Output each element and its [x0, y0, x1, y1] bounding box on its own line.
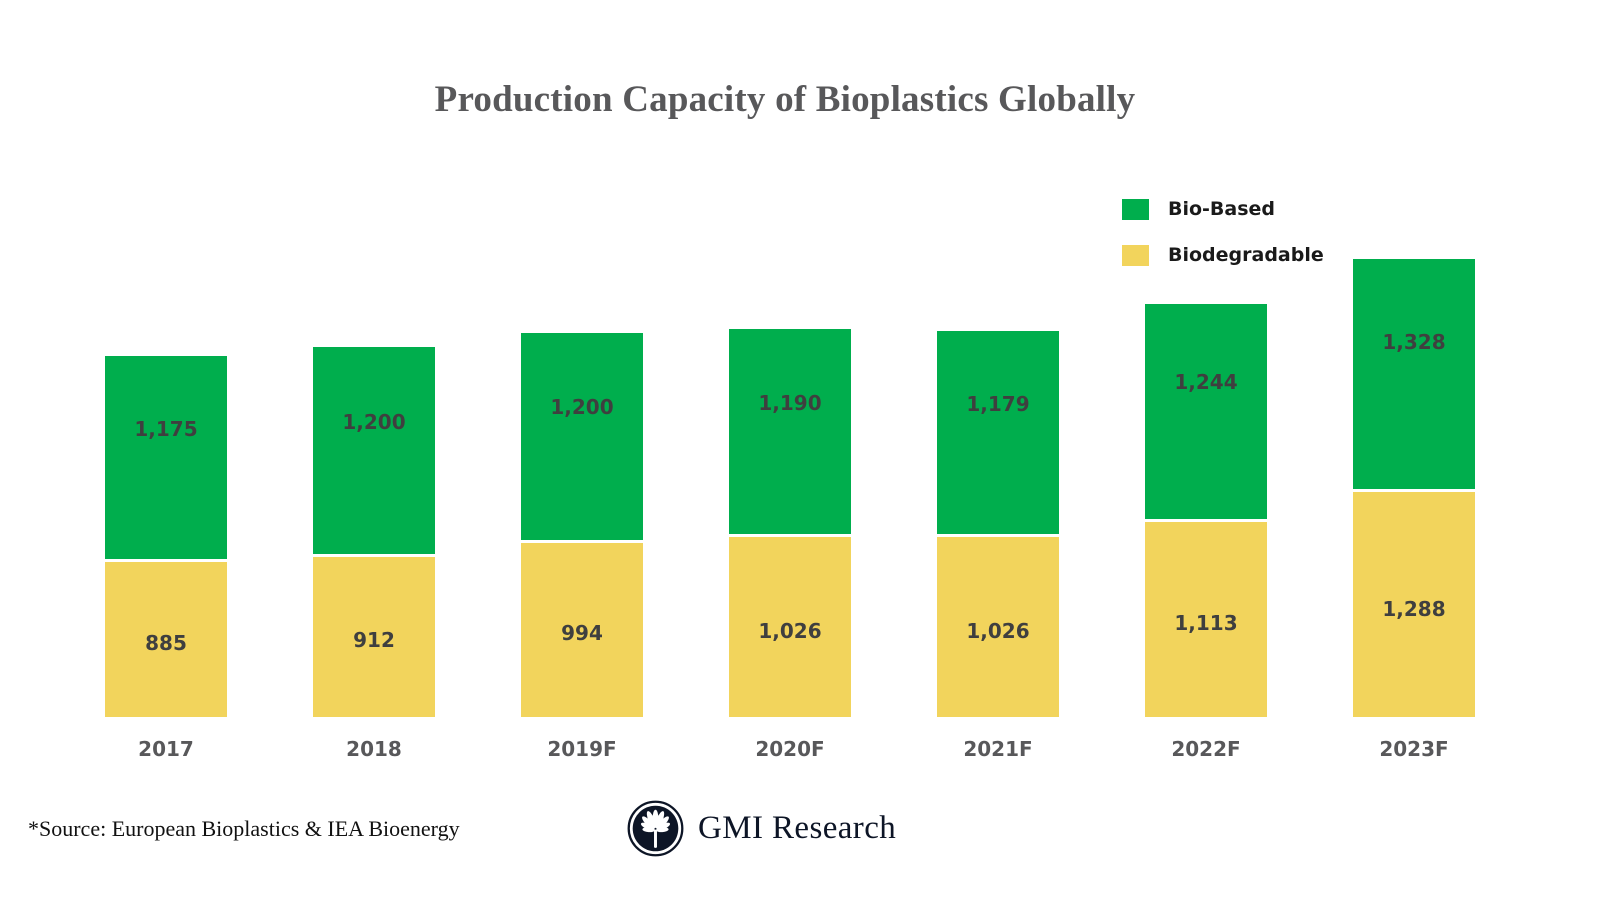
bar-group-2017[interactable]: 1,1758852017 [105, 356, 227, 717]
source-note: *Source: European Bioplastics & IEA Bioe… [28, 816, 460, 842]
x-axis-label-2018: 2018 [313, 737, 435, 761]
bar-value-biodegradable: 885 [105, 631, 227, 655]
bar-segment-bio-based[interactable]: 1,200 [521, 333, 643, 543]
bar-value-biodegradable: 1,113 [1145, 611, 1267, 635]
bar-value-biodegradable: 994 [521, 621, 643, 645]
bar-value-biodegradable: 1,026 [729, 619, 851, 643]
bar-value-biodegradable: 1,288 [1353, 597, 1475, 621]
bar-group-2023f[interactable]: 1,3281,2882023F [1353, 259, 1475, 717]
bar-segment-bio-based[interactable]: 1,328 [1353, 259, 1475, 492]
bar-group-2018[interactable]: 1,2009122018 [313, 347, 435, 717]
bar-segment-biodegradable[interactable]: 912 [313, 557, 435, 717]
chart-canvas: Production Capacity of Bioplastics Globa… [0, 0, 1600, 900]
bar-value-bio-based: 1,200 [313, 410, 435, 434]
bar-group-2019f[interactable]: 1,2009942019F [521, 333, 643, 717]
x-axis-label-2019f: 2019F [521, 737, 643, 761]
bar-group-2020f[interactable]: 1,1901,0262020F [729, 329, 851, 717]
bar-segment-bio-based[interactable]: 1,175 [105, 356, 227, 562]
brand-name: GMI Research [698, 810, 896, 847]
bar-segment-biodegradable[interactable]: 994 [521, 543, 643, 717]
bar-value-biodegradable: 912 [313, 628, 435, 652]
bar-value-biodegradable: 1,026 [937, 619, 1059, 643]
x-axis-label-2020f: 2020F [729, 737, 851, 761]
x-axis-label-2022f: 2022F [1145, 737, 1267, 761]
bar-segment-bio-based[interactable]: 1,244 [1145, 304, 1267, 522]
bar-value-bio-based: 1,200 [521, 395, 643, 419]
bar-segment-biodegradable[interactable]: 1,113 [1145, 522, 1267, 717]
brand-logo: GMI Research [627, 800, 896, 857]
x-axis-label-2017: 2017 [105, 737, 227, 761]
bar-value-bio-based: 1,328 [1353, 330, 1475, 354]
bar-value-bio-based: 1,175 [105, 417, 227, 441]
bar-value-bio-based: 1,190 [729, 391, 851, 415]
bar-value-bio-based: 1,244 [1145, 370, 1267, 394]
bar-group-2021f[interactable]: 1,1791,0262021F [937, 331, 1059, 717]
bar-value-bio-based: 1,179 [937, 392, 1059, 416]
palm-fan-logo-icon [627, 800, 684, 857]
bar-segment-bio-based[interactable]: 1,190 [729, 329, 851, 537]
bar-segment-bio-based[interactable]: 1,200 [313, 347, 435, 557]
plot-area: 1,17588520171,20091220181,2009942019F1,1… [0, 0, 1600, 900]
bar-segment-bio-based[interactable]: 1,179 [937, 331, 1059, 537]
bar-group-2022f[interactable]: 1,2441,1132022F [1145, 304, 1267, 717]
x-axis-label-2021f: 2021F [937, 737, 1059, 761]
bar-segment-biodegradable[interactable]: 885 [105, 562, 227, 717]
x-axis-label-2023f: 2023F [1353, 737, 1475, 761]
bar-segment-biodegradable[interactable]: 1,026 [729, 537, 851, 717]
bar-segment-biodegradable[interactable]: 1,026 [937, 537, 1059, 717]
bar-segment-biodegradable[interactable]: 1,288 [1353, 492, 1475, 717]
